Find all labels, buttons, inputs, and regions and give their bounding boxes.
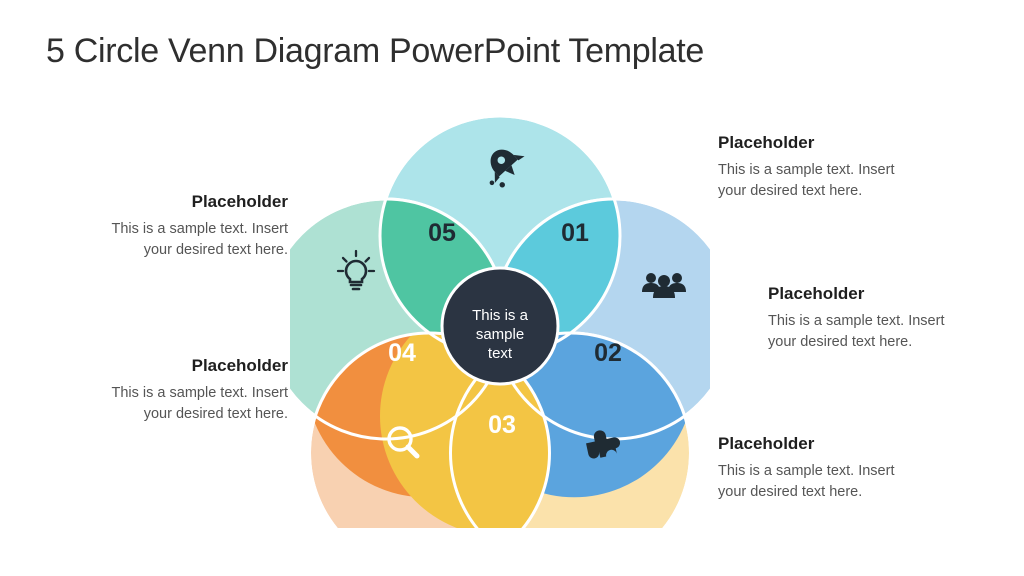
callout-body: This is a sample text. Insert your desir…: [718, 461, 948, 502]
callout-title: Placeholder: [718, 434, 948, 454]
callout-body-line-1: This is a sample text. Insert: [718, 162, 894, 178]
callout-body-line-2: your desired text here.: [144, 242, 288, 258]
petal-number-02: 02: [594, 339, 622, 367]
page-title: 5 Circle Venn Diagram PowerPoint Templat…: [46, 32, 704, 71]
center-label-line-3: text: [488, 345, 513, 362]
callout-title: Placeholder: [768, 284, 998, 304]
petal-number-05: 05: [428, 219, 456, 247]
petal-number-03: 03: [488, 411, 516, 439]
callout-body-line-1: This is a sample text. Insert: [112, 385, 288, 401]
callout-body-line-1: This is a sample text. Insert: [112, 221, 288, 237]
callout-body: This is a sample text. Insert your desir…: [58, 383, 288, 424]
callout-right-3[interactable]: Placeholder This is a sample text. Inser…: [718, 434, 948, 503]
callout-body-line-2: your desired text here.: [144, 406, 288, 422]
callout-right-1[interactable]: Placeholder This is a sample text. Inser…: [718, 133, 948, 202]
petal-number-01: 01: [561, 219, 589, 247]
callout-title: Placeholder: [58, 192, 288, 212]
callout-body-line-1: This is a sample text. Insert: [718, 463, 894, 479]
slide-canvas: 5 Circle Venn Diagram PowerPoint Templat…: [0, 0, 1024, 576]
callout-body-line-2: your desired text here.: [718, 183, 862, 199]
callout-right-2[interactable]: Placeholder This is a sample text. Inser…: [768, 284, 998, 353]
callout-title: Placeholder: [718, 133, 948, 153]
center-label-line-1: This is a: [472, 307, 529, 324]
callout-body: This is a sample text. Insert your desir…: [58, 219, 288, 260]
center-label-line-2: sample: [476, 326, 524, 343]
petal-number-04: 04: [388, 339, 416, 367]
callout-body-line-1: This is a sample text. Insert: [768, 313, 944, 329]
callout-left-2[interactable]: Placeholder This is a sample text. Inser…: [58, 356, 288, 425]
callout-title: Placeholder: [58, 356, 288, 376]
callout-body: This is a sample text. Insert your desir…: [718, 160, 948, 201]
callout-body-line-2: your desired text here.: [718, 484, 862, 500]
venn-diagram: This is a sample text 01 02 03 04 05: [290, 108, 710, 528]
callout-body: This is a sample text. Insert your desir…: [768, 311, 998, 352]
callout-body-line-2: your desired text here.: [768, 334, 912, 350]
callout-left-1[interactable]: Placeholder This is a sample text. Inser…: [58, 192, 288, 261]
